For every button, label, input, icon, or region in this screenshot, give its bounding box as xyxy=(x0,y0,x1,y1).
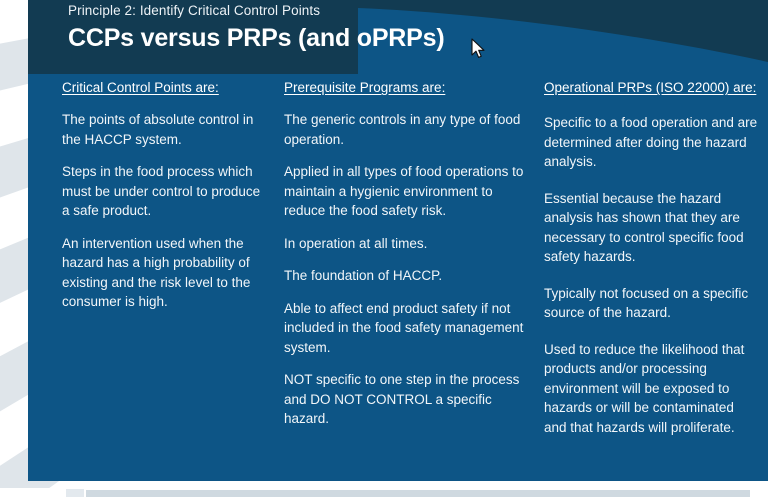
slide-root: Principle 2: Identify Critical Control P… xyxy=(0,0,768,497)
content-panel: Principle 2: Identify Critical Control P… xyxy=(28,0,768,481)
column-paragraph: Steps in the food process which must be … xyxy=(62,162,270,221)
column-paragraph: The points of absolute control in the HA… xyxy=(62,110,270,149)
column-heading: Critical Control Points are: xyxy=(62,78,270,97)
column-prerequisite-programs: Prerequisite Programs are: The generic c… xyxy=(280,78,536,429)
column-paragraph: An intervention used when the hazard has… xyxy=(62,234,270,312)
column-critical-control-points: Critical Control Points are: The points … xyxy=(34,78,280,312)
column-paragraph: Specific to a food operation and are det… xyxy=(544,113,758,172)
bottom-scroll-strip[interactable] xyxy=(86,490,750,497)
column-paragraph: NOT specific to one step in the process … xyxy=(284,370,526,429)
column-paragraph: Typically not focused on a specific sour… xyxy=(544,284,758,323)
column-paragraph: Used to reduce the likelihood that produ… xyxy=(544,340,758,438)
column-paragraph: Able to affect end product safety if not… xyxy=(284,299,526,358)
column-paragraph: The foundation of HACCP. xyxy=(284,266,526,286)
column-paragraph: The generic controls in any type of food… xyxy=(284,110,526,149)
columns-container: Critical Control Points are: The points … xyxy=(34,78,768,478)
column-paragraph: In operation at all times. xyxy=(284,234,526,254)
column-heading: Operational PRPs (ISO 22000) are: xyxy=(544,78,758,97)
title-block: Principle 2: Identify Critical Control P… xyxy=(68,2,708,54)
bottom-tab-marker xyxy=(66,489,84,497)
page-title: CCPs versus PRPs (and oPRPs) xyxy=(68,22,708,54)
slide-eyebrow: Principle 2: Identify Critical Control P… xyxy=(68,2,708,20)
column-heading: Prerequisite Programs are: xyxy=(284,78,526,97)
column-paragraph: Essential because the hazard analysis ha… xyxy=(544,189,758,267)
column-operational-prps: Operational PRPs (ISO 22000) are: Specif… xyxy=(536,78,768,437)
column-paragraph: Applied in all types of food operations … xyxy=(284,162,526,221)
